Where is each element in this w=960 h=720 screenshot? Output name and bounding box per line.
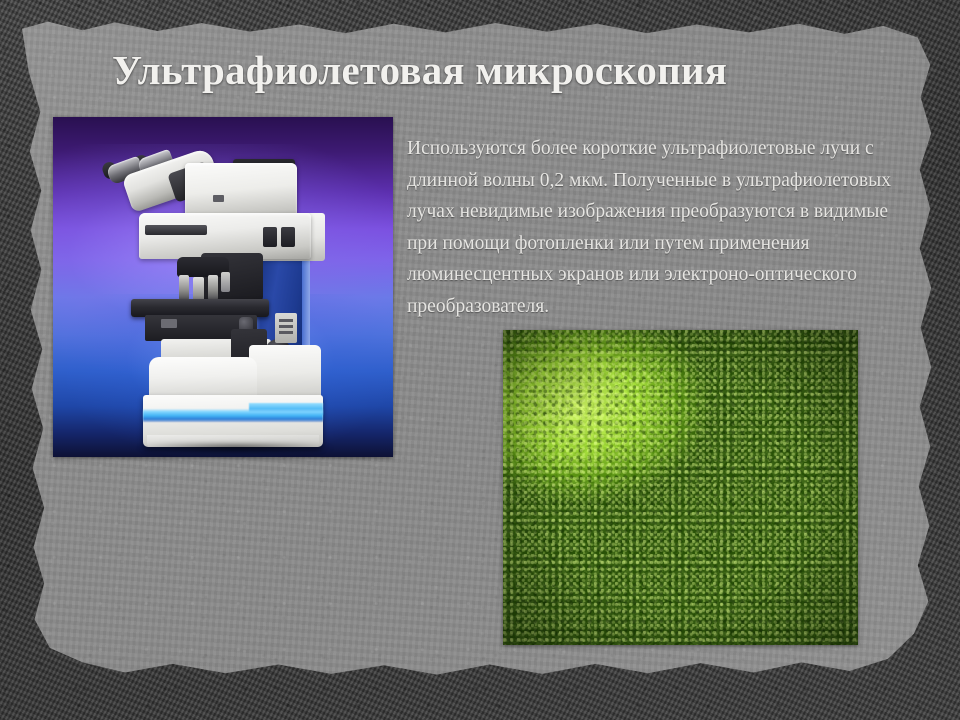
microscope-brand-badge — [213, 195, 224, 202]
microscope-control-line-3 — [279, 331, 293, 334]
virus-vignette — [503, 330, 858, 645]
microscope-illustration — [53, 117, 393, 457]
microscope-objective-lens-4 — [221, 272, 230, 292]
microscope-objective-lens-1 — [179, 275, 189, 301]
microscope-stage-clip — [161, 319, 177, 328]
microscope-control-line-1 — [279, 319, 293, 322]
microscope-port-right — [281, 227, 295, 247]
microscope-drop-shadow — [137, 443, 333, 455]
microscope-image — [53, 117, 393, 457]
slide-body-text: Используются более короткие ультрафиолет… — [407, 133, 912, 322]
microscope-base-right — [249, 345, 321, 401]
body-paragraph: Используются более короткие ультрафиолет… — [407, 133, 912, 322]
microscope-blue-column-highlight — [302, 257, 310, 355]
microscope-base-light-stripe — [143, 409, 323, 422]
slide-title: Ультрафиолетовая микроскопия — [112, 48, 872, 92]
presentation-slide: Ультрафиолетовая микроскопия Используютс… — [0, 0, 960, 720]
microscope-port-left — [263, 227, 277, 247]
microscope-control-line-2 — [279, 325, 293, 328]
microscope-control-panel — [275, 313, 297, 343]
virus-micrograph-image — [503, 330, 858, 645]
microscope-filter-slider — [145, 225, 207, 235]
microscope-objective-lens-3 — [208, 275, 218, 301]
